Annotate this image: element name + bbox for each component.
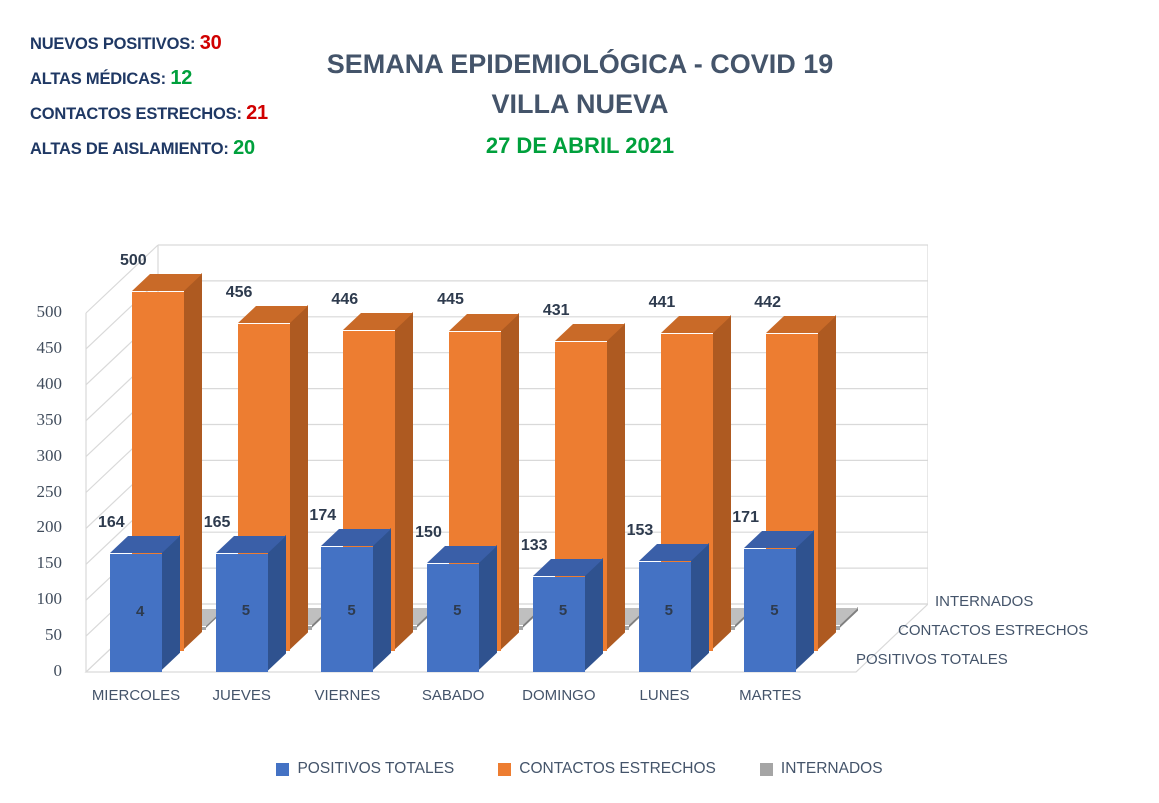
y-axis-tick-label: 400 [4,374,62,394]
bar-value-label: 133 [521,537,548,555]
bar-value-label: 5 [665,602,673,619]
bar-value-label: 150 [415,524,442,542]
bar-top [639,544,711,563]
bar-value-label: 456 [226,284,253,302]
bar-value-label: 5 [242,602,250,619]
x-axis-category-label: LUNES [617,687,713,704]
y-axis-tick-label: 200 [4,517,62,537]
summary-value: 12 [170,67,192,89]
bar-face [533,577,585,672]
y-axis-tick-label: 150 [4,553,62,573]
bar-side [796,530,816,672]
bar-side [268,535,288,672]
legend-swatch-icon [760,763,773,776]
summary-value: 20 [233,137,255,159]
bar-top [744,531,816,550]
bar-side [184,273,204,651]
plot-area: 4500164545616554461745445150543113354411… [78,195,928,675]
x-axis-category-label: JUEVES [194,687,290,704]
bar-side [373,528,393,672]
bar-value-label: 431 [543,302,570,320]
y-axis: 050100150200250300350400450500 [0,195,62,675]
legend-swatch-icon [276,763,289,776]
bar-value-label: 174 [309,507,336,525]
bar-side [818,315,838,651]
legend-label: POSITIVOS TOTALES [297,760,454,778]
bar-side [501,313,521,652]
bar-value-label: 165 [204,514,231,532]
bar-top [216,536,288,555]
bar-top [661,316,733,335]
y-axis-tick-label: 50 [4,625,62,645]
chart-title-block: SEMANA EPIDEMIOLÓGICA - COVID 19 VILLA N… [300,44,860,164]
summary-label: ALTAS MÉDICAS: [30,70,166,88]
bar-value-label: 153 [627,522,654,540]
bar-side [290,305,310,651]
x-axis-category-label: SABADO [405,687,501,704]
bar-value-label: 5 [453,602,461,619]
x-axis-category-label: MIERCOLES [88,687,184,704]
bar-value-label: 441 [649,294,676,312]
depth-axis-label: INTERNADOS [935,593,1033,610]
chart-legend: POSITIVOS TOTALESCONTACTOS ESTRECHOSINTE… [0,760,1159,778]
y-axis-tick-label: 250 [4,482,62,502]
depth-axis-label: CONTACTOS ESTRECHOS [898,622,1088,639]
bar-top [427,546,499,565]
y-axis-tick-label: 0 [4,661,62,681]
bar-value-label: 5 [347,602,355,619]
bar-top [766,316,838,335]
chart-title-line2: VILLA NUEVA [300,84,860,124]
y-axis-tick-label: 450 [4,338,62,358]
bar-side [713,315,733,651]
bar-value-label: 500 [120,252,147,270]
x-axis-category-label: MARTES [722,687,818,704]
bar-top [449,314,521,333]
summary-label: ALTAS DE AISLAMIENTO: [30,140,229,158]
legend-swatch-icon [498,763,511,776]
bar-top [533,559,605,578]
depth-axis-label: POSITIVOS TOTALES [856,651,1008,668]
bar-value-label: 5 [559,602,567,619]
summary-label: NUEVOS POSITIVOS: [30,35,195,53]
y-axis-tick-label: 350 [4,410,62,430]
bar-value-label: 164 [98,514,125,532]
summary-value: 30 [200,32,222,54]
bar-value-label: 171 [732,509,759,527]
bar-value-label: 446 [331,291,358,309]
bar-value-label: 4 [136,603,144,620]
bar-positivos-totales-domingo[interactable] [533,577,585,672]
legend-label: INTERNADOS [781,760,883,778]
bar-value-label: 5 [770,602,778,619]
bar-value-label: 442 [754,294,781,312]
bar-value-label: 445 [437,291,464,309]
bar-top [238,306,310,325]
bar-side [395,312,415,651]
chart-title-date: 27 DE ABRIL 2021 [300,128,860,164]
bar-top [343,313,415,332]
bar-top [132,274,204,293]
summary-value: 21 [246,102,268,124]
x-axis-category-label: VIERNES [299,687,395,704]
bar-side [162,535,182,672]
legend-item[interactable]: CONTACTOS ESTRECHOS [498,760,716,778]
legend-item[interactable]: INTERNADOS [760,760,883,778]
y-axis-tick-label: 500 [4,302,62,322]
chart-3d-bar: 050100150200250300350400450500 450016454… [0,195,1159,755]
y-axis-tick-label: 300 [4,446,62,466]
legend-label: CONTACTOS ESTRECHOS [519,760,716,778]
chart-title-line1: SEMANA EPIDEMIOLÓGICA - COVID 19 [300,44,860,84]
bar-top [110,536,182,555]
x-axis-category-label: DOMINGO [511,687,607,704]
y-axis-tick-label: 100 [4,589,62,609]
legend-item[interactable]: POSITIVOS TOTALES [276,760,454,778]
summary-label: CONTACTOS ESTRECHOS: [30,105,242,123]
bar-side [607,323,627,651]
bar-top [321,529,393,548]
bar-top [555,324,627,343]
x-axis: MIERCOLESJUEVESVIERNESSABADODOMINGOLUNES… [0,687,1159,717]
